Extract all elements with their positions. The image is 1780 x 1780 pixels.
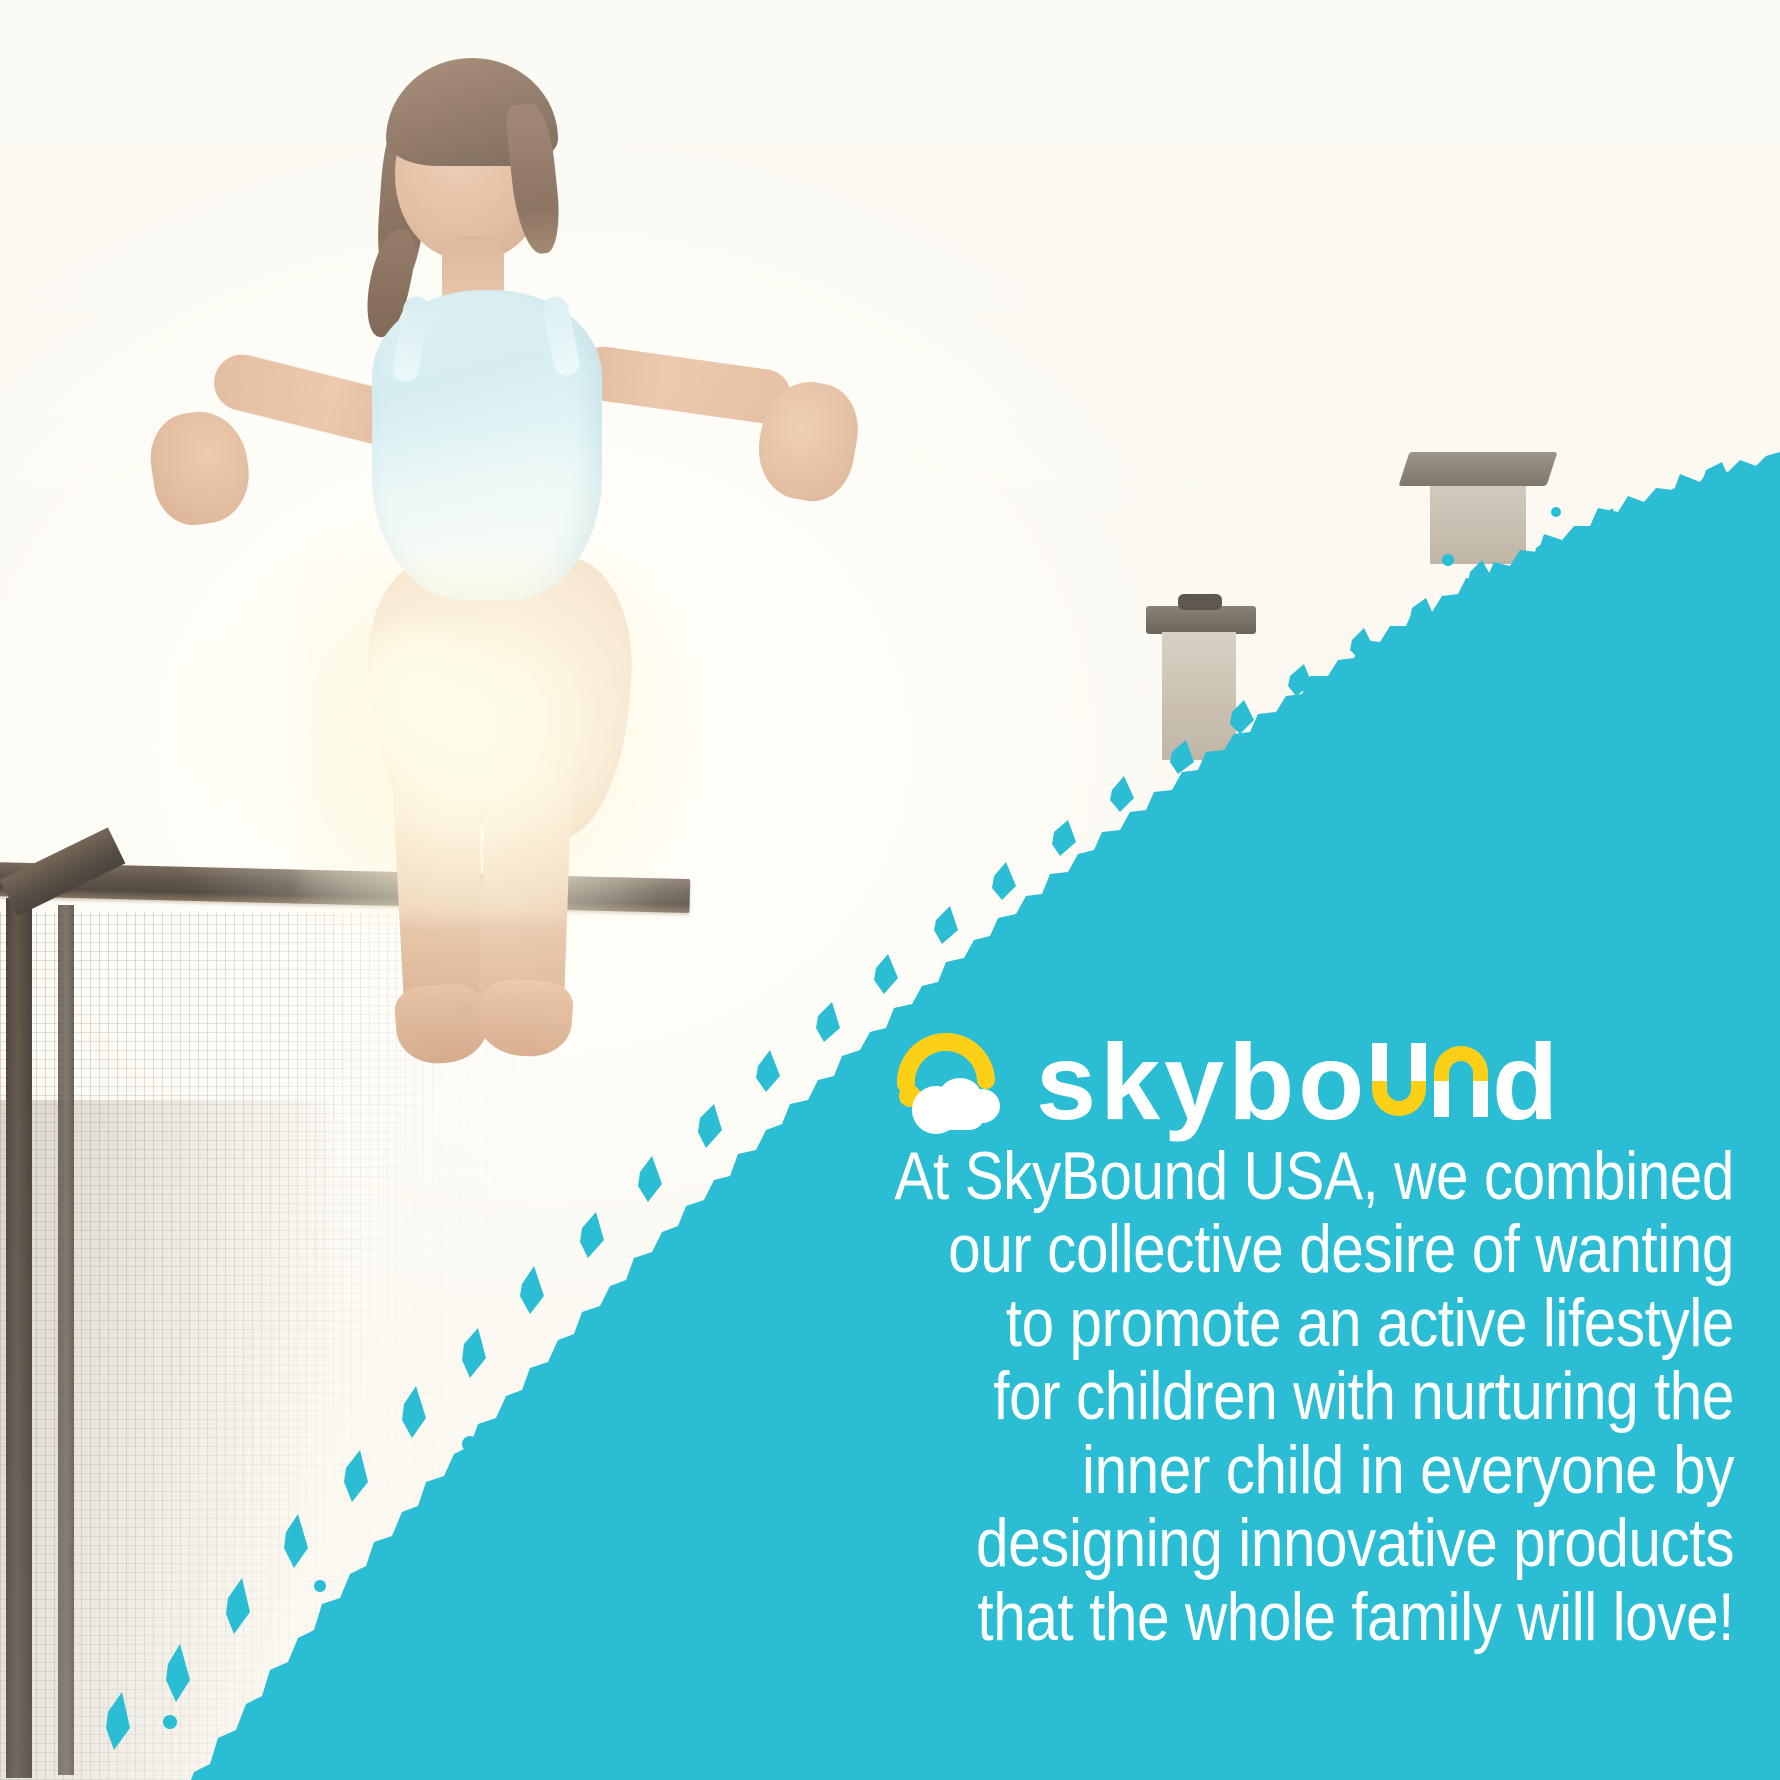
skybound-logo[interactable]: skybo d <box>888 1022 1528 1142</box>
blurb-line: that the whole family will love! <box>800 1581 1734 1654</box>
blurb-line: At SkyBound USA, we combined <box>800 1140 1734 1213</box>
blurb-line: for children with nurturing the <box>800 1360 1734 1433</box>
wordmark-post: d <box>1492 1028 1562 1136</box>
blurb-line: designing innovative products <box>800 1507 1734 1580</box>
promo-graphic: skybo d At SkyBound USA, we com <box>0 0 1780 1780</box>
wordmark-n-letter <box>1430 1041 1492 1119</box>
brand-blurb: At SkyBound USA, we combined our collect… <box>800 1140 1734 1654</box>
sun-arc-icon <box>906 1042 986 1084</box>
sun-arc-cloud-icon <box>888 1022 1018 1142</box>
blurb-line: our collective desire of wanting <box>800 1213 1734 1286</box>
left-shin <box>391 758 488 1022</box>
right-foot <box>475 977 574 1059</box>
right-arm <box>573 343 794 427</box>
left-hand <box>145 406 256 530</box>
wordmark-u-letter <box>1368 1041 1430 1119</box>
sun-flare-core <box>330 620 500 770</box>
blurb-line: to promote an active lifestyle <box>800 1287 1734 1360</box>
blurb-line: inner child in everyone by <box>800 1434 1734 1507</box>
left-foot <box>393 981 491 1067</box>
skybound-wordmark: skybo d <box>1036 1028 1562 1136</box>
wordmark-pre: skybo <box>1036 1028 1368 1136</box>
